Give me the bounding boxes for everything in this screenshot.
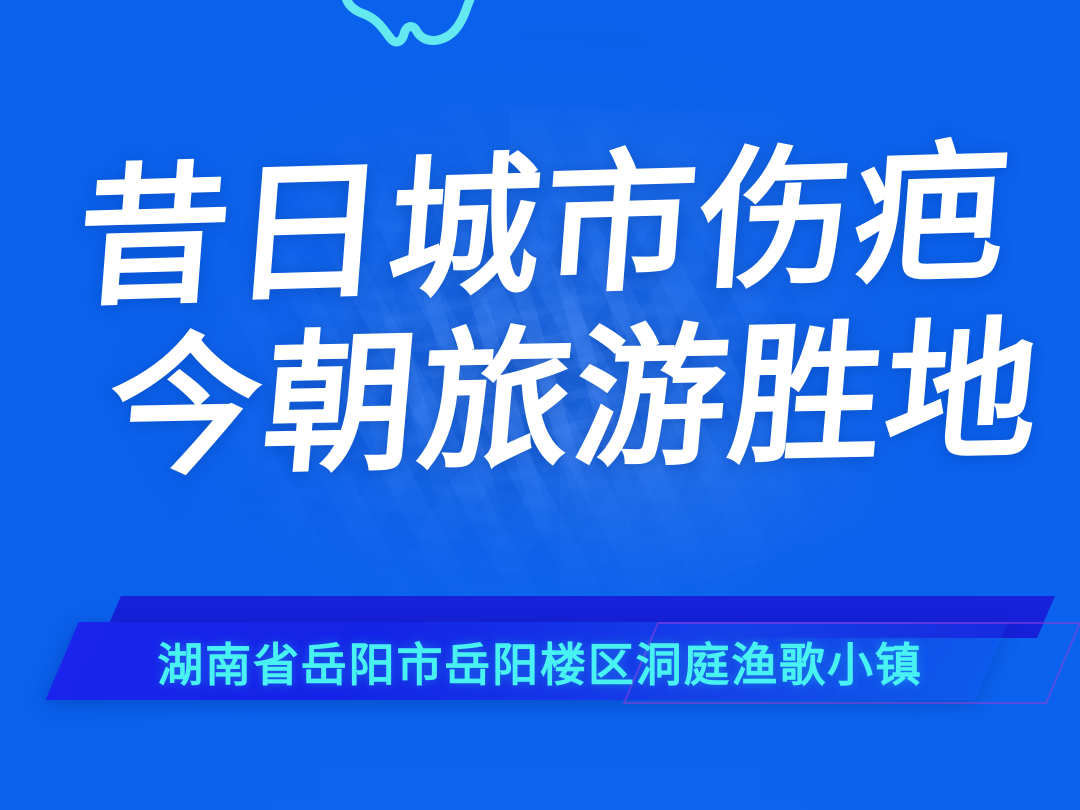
location-banner: 湖南省岳阳市岳阳楼区洞庭渔歌小镇 (0, 596, 1080, 726)
banner-location-text: 湖南省岳阳市岳阳楼区洞庭渔歌小镇 (0, 626, 1080, 698)
title-line-1: 昔日城市伤疤 (0, 135, 1080, 317)
poster-title: 昔日城市伤疤 今朝旅游胜地 (0, 150, 1080, 476)
poster-canvas: 昔日城市伤疤 今朝旅游胜地 湖南省岳阳市岳阳楼区洞庭渔歌小镇 (0, 0, 1080, 810)
wave-squiggle-icon (330, 0, 530, 54)
title-line-2: 今朝旅游胜地 (0, 314, 1080, 487)
